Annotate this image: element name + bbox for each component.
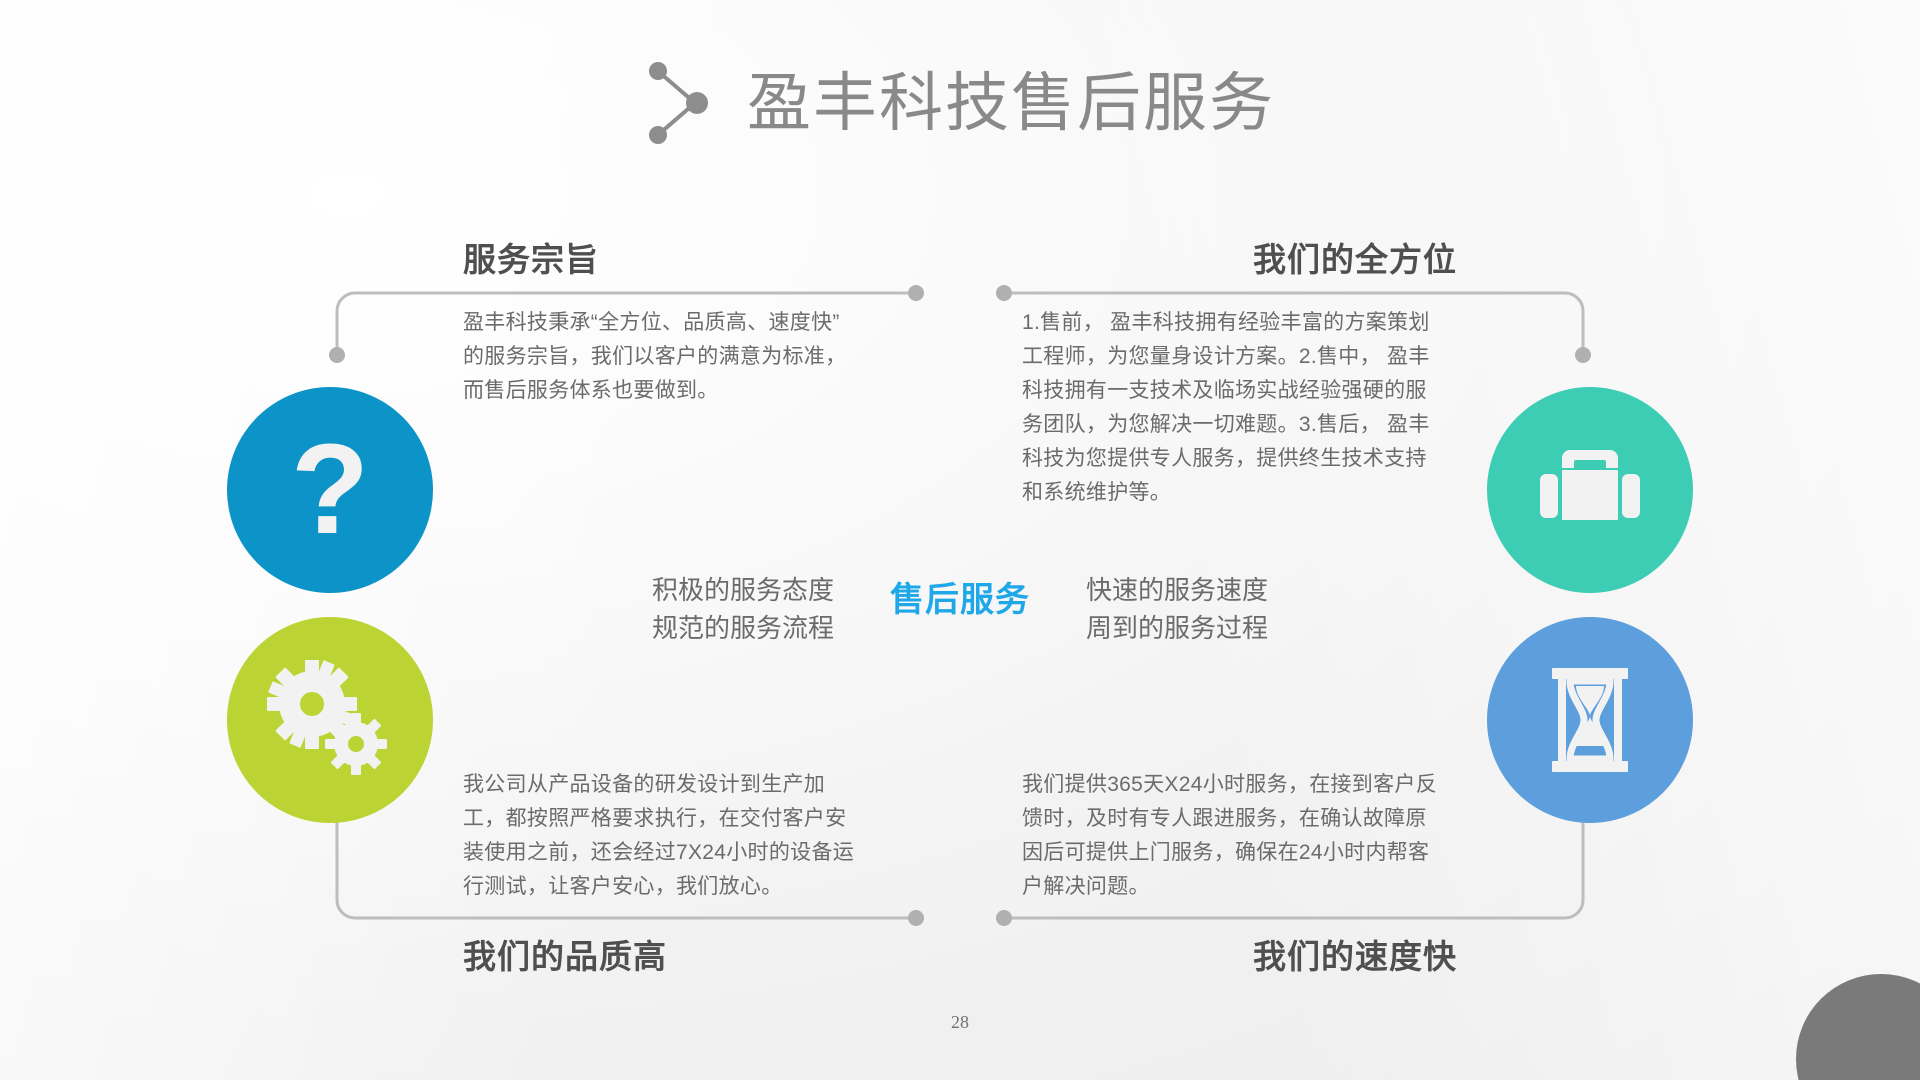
body-speed: 我们提供365天X24小时服务，在接到客户反馈时，及时有专人跟进服务，在确认故障… <box>1022 768 1442 904</box>
hourglass-icon <box>1544 664 1636 776</box>
question-mark-icon: ? <box>291 426 369 554</box>
heading-all-round: 我们的全方位 <box>1253 233 1457 281</box>
center-group: 积极的服务态度 规范的服务流程 售后服务 快速的服务速度 周到的服务过程 <box>652 570 1268 648</box>
icon-circle-gears <box>227 617 433 823</box>
gears-icon <box>266 660 394 780</box>
connector-dot <box>329 347 345 363</box>
body-quality: 我公司从产品设备的研发设计到生产加工，都按照严格要求执行，在交付客户安装使用之前… <box>463 768 863 904</box>
icon-circle-hourglass <box>1487 617 1693 823</box>
connector-dot <box>996 285 1012 301</box>
connector-dot <box>908 910 924 926</box>
icon-circle-question: ? <box>227 387 433 593</box>
center-phrase-right: 快速的服务速度 周到的服务过程 <box>1086 570 1268 648</box>
body-service-purpose: 盈丰科技秉承“全方位、品质高、速度快” 的服务宗旨，我们以客户的满意为标准，而售… <box>463 306 863 408</box>
slide-header: 盈丰科技售后服务 <box>0 58 1920 148</box>
connector-dot <box>908 285 924 301</box>
page-number: 28 <box>951 1012 969 1033</box>
center-badge-after-sales: 售后服务 <box>890 570 1030 621</box>
body-all-round: 1.售前， 盈丰科技拥有经验丰富的方案策划工程师，为您量身设计方案。2.售中， … <box>1022 306 1430 510</box>
briefcase-icon <box>1534 444 1646 536</box>
network-node-icon <box>645 58 719 148</box>
page-title: 盈丰科技售后服务 <box>747 71 1275 135</box>
heading-service-purpose: 服务宗旨 <box>463 233 599 281</box>
connector-dot <box>996 910 1012 926</box>
heading-speed: 我们的速度快 <box>1253 930 1457 978</box>
icon-circle-briefcase <box>1487 387 1693 593</box>
connector-dot <box>1575 347 1591 363</box>
center-phrase-left: 积极的服务态度 规范的服务流程 <box>652 570 834 648</box>
slide-canvas: 盈丰科技售后服务 服务宗旨 我们的全方位 我们的品质高 我们的速度快 盈丰科技秉… <box>0 0 1920 1080</box>
heading-quality: 我们的品质高 <box>463 930 667 978</box>
corner-decoration-circle <box>1796 974 1920 1080</box>
